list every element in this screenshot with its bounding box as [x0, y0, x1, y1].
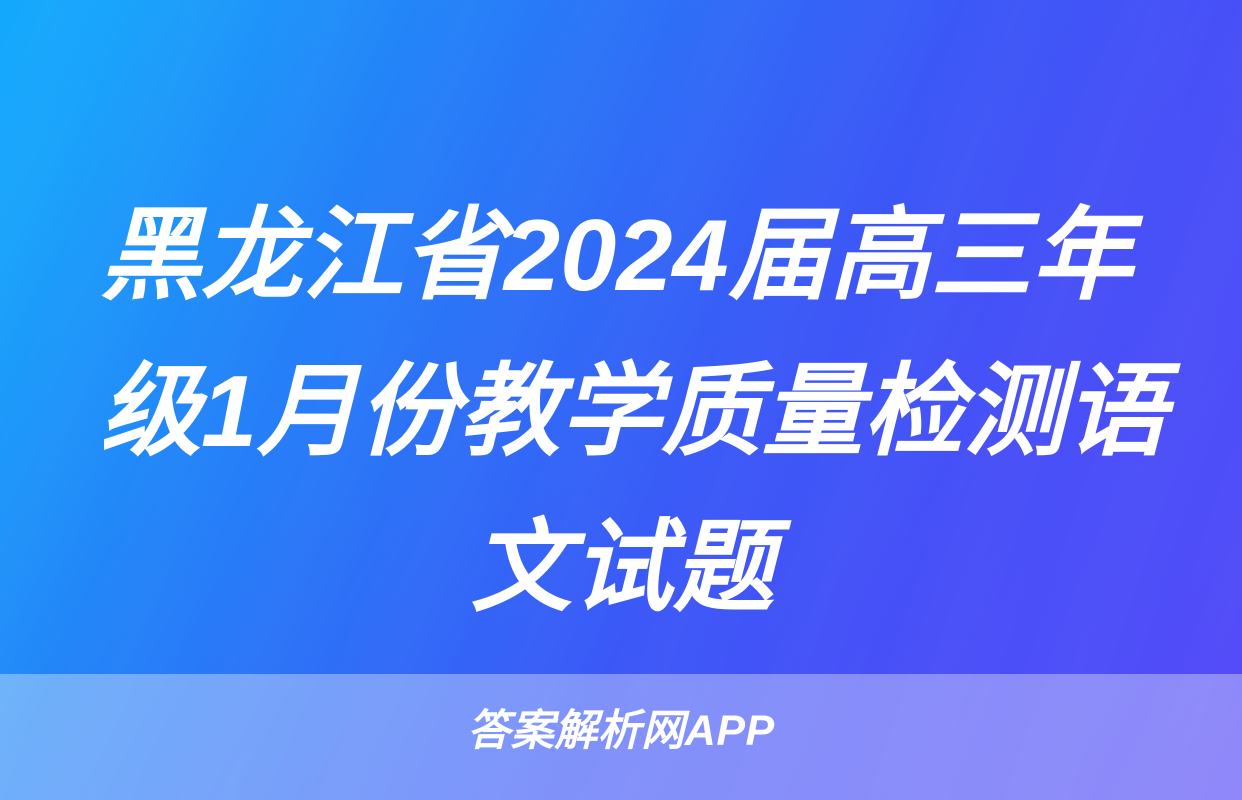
page-title-line-1: 黑龙江省2024届高三年 [100, 178, 1145, 334]
app-watermark: 答案解析网APP [0, 706, 1242, 756]
share-card: 黑龙江省2024届高三年 级1月份教学质量检测语 文试题 答案解析网APP [0, 0, 1242, 800]
page-title-line-2: 级1月份教学质量检测语 [100, 334, 1145, 490]
page-title: 黑龙江省2024届高三年 级1月份教学质量检测语 文试题 [100, 178, 1145, 646]
page-title-line-3: 文试题 [100, 490, 1145, 646]
